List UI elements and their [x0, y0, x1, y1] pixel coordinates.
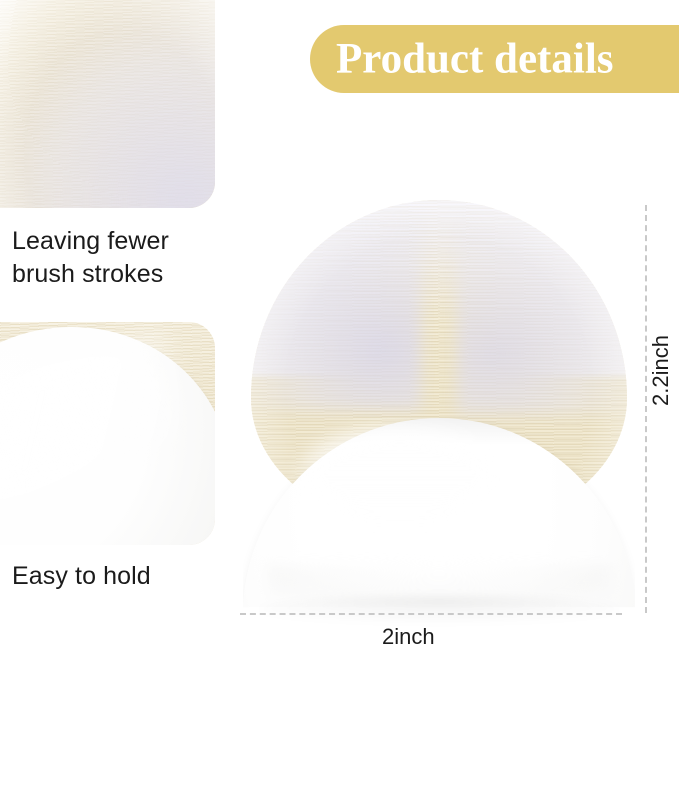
- handle-gloss-highlight: [298, 428, 502, 520]
- dimension-label-height: 2.2inch: [650, 335, 672, 406]
- page-title: Product details: [336, 38, 614, 81]
- thumbnail-handle-closeup: [0, 322, 215, 545]
- dimension-label-width: 2inch: [382, 626, 435, 648]
- product-photo-round-powder-brush: [243, 200, 635, 613]
- product-details-image: Product details Leaving fewer brush stro…: [0, 0, 679, 653]
- dimension-guide-vertical: [645, 205, 647, 613]
- dimension-guide-horizontal: [240, 613, 622, 615]
- thumbnail-edge-fade: [0, 0, 215, 208]
- caption-easy-to-hold: Easy to hold: [12, 560, 151, 593]
- product-details-banner: Product details: [310, 25, 679, 93]
- caption-leaving-fewer-brush-strokes: Leaving fewer brush strokes: [12, 225, 169, 291]
- handle-drop-shadow: [259, 596, 619, 622]
- thumbnail-bristle-closeup: [0, 0, 215, 208]
